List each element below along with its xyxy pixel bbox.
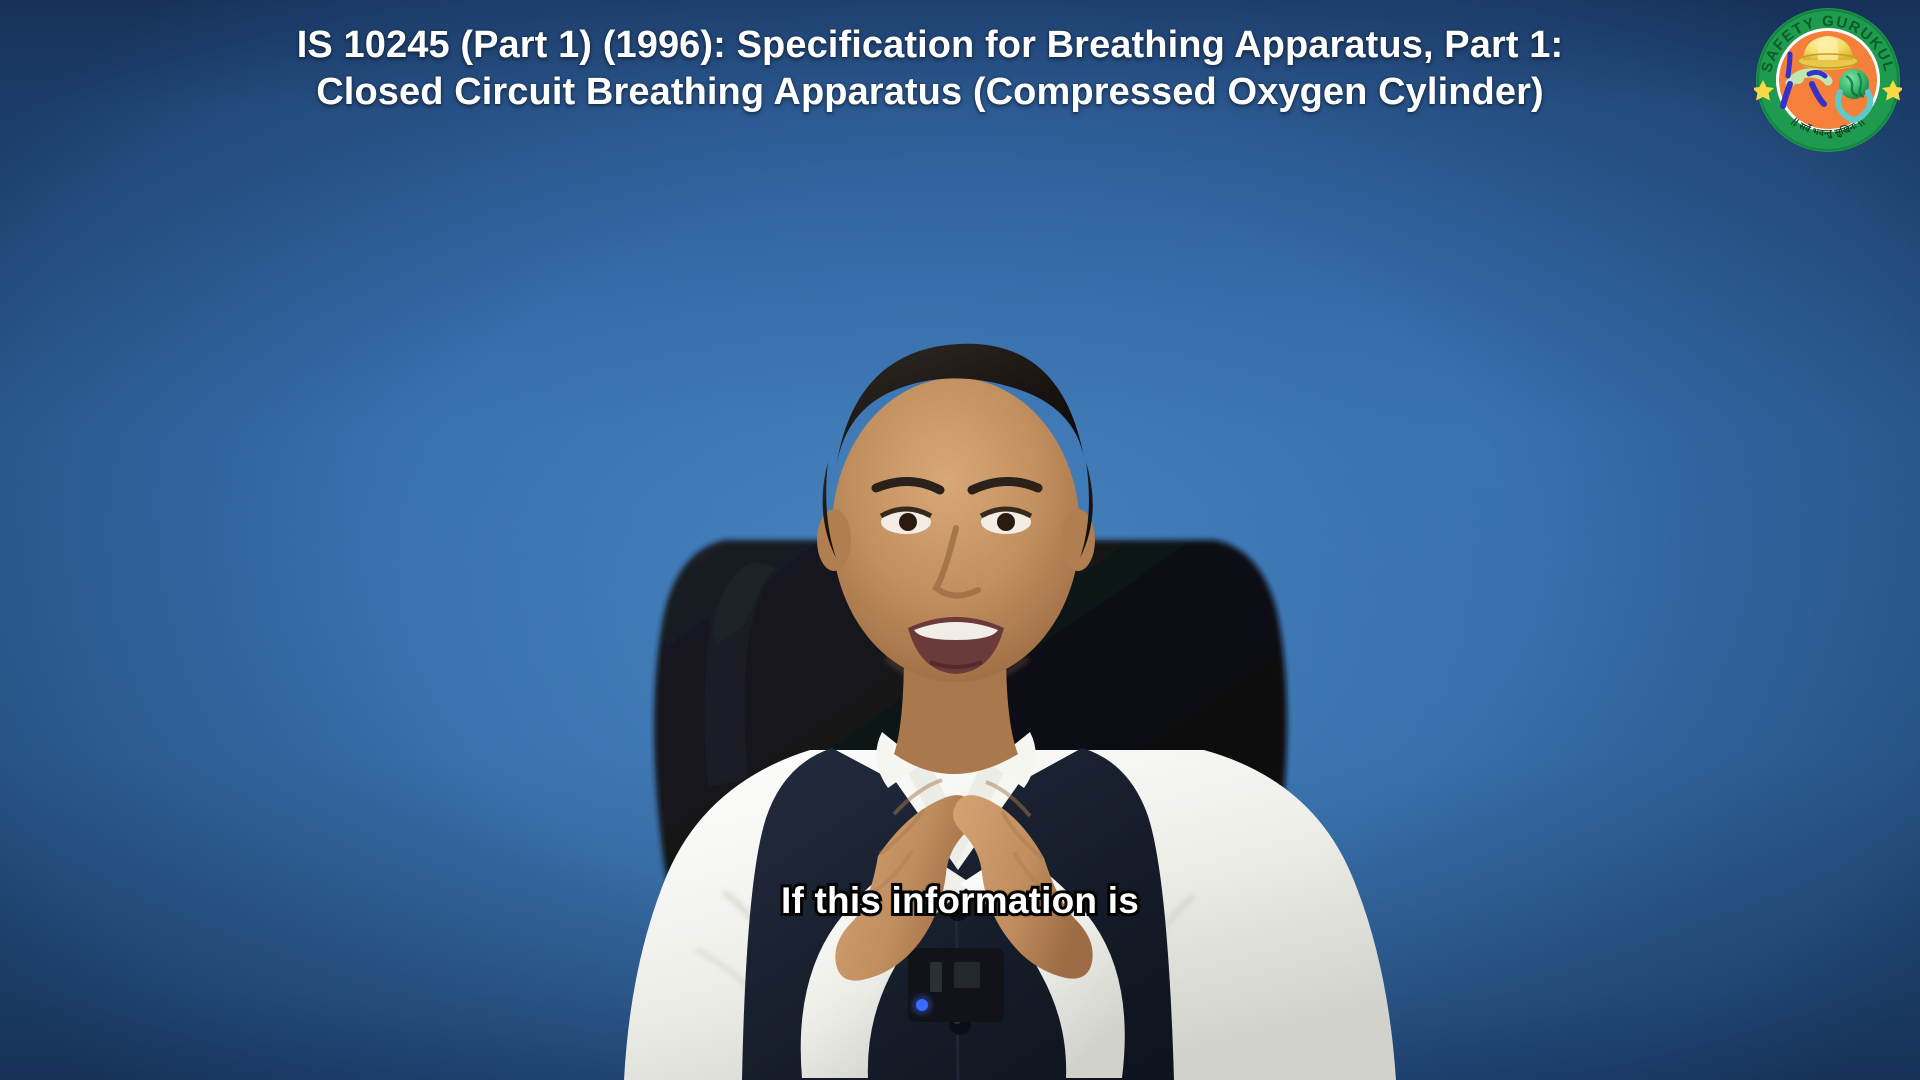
subtitle-caption: If this information is — [0, 880, 1920, 922]
video-frame: IS 10245 (Part 1) (1996): Specification … — [0, 0, 1920, 1080]
safety-gurukul-logo[interactable]: SAFETY GURUKUL || सर्वे भवन्तु सुखिनः || — [1754, 6, 1902, 154]
title-line-1: IS 10245 (Part 1) (1996): Specification … — [120, 22, 1740, 69]
caption-text: If this information is — [781, 880, 1139, 922]
lapel-mic-transmitter — [908, 948, 1004, 1022]
presenter-illustration — [510, 210, 1410, 1080]
logo-graphic: SAFETY GURUKUL || सर्वे भवन्तु सुखिनः || — [1754, 6, 1902, 154]
title-line-2: Closed Circuit Breathing Apparatus (Comp… — [120, 69, 1740, 116]
slide-title: IS 10245 (Part 1) (1996): Specification … — [0, 22, 1920, 116]
presenter-figure — [510, 210, 1410, 1080]
